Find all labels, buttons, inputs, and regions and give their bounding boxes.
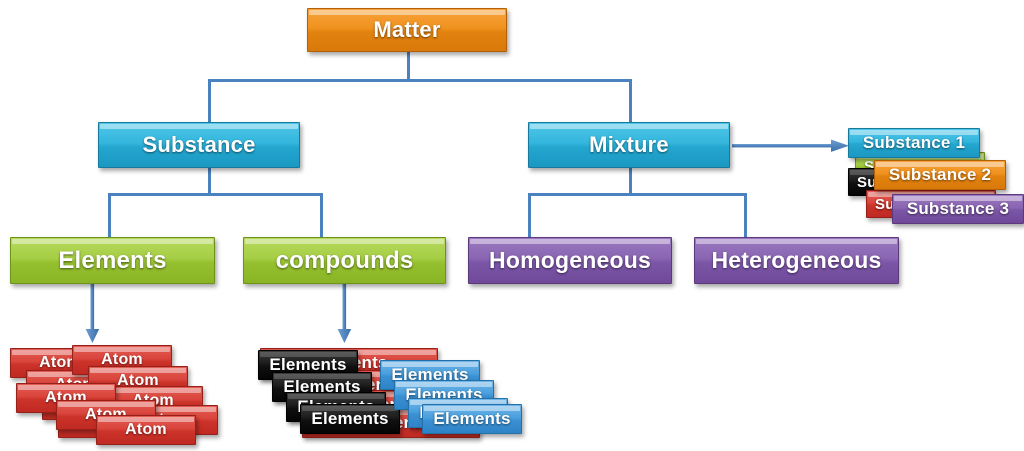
connector-to-homogeneous bbox=[528, 193, 531, 237]
arrow-compounds-to-elements bbox=[335, 283, 355, 345]
node-compounds[interactable]: compounds bbox=[243, 237, 446, 284]
connector-to-compounds bbox=[320, 193, 323, 237]
node-elements-item-label: Elements bbox=[433, 409, 510, 429]
node-substance-label: Substance bbox=[142, 132, 255, 158]
arrow-mixture-to-substances bbox=[732, 136, 852, 156]
node-atom-label: Atom bbox=[125, 421, 167, 439]
node-substance-3-label: Substance 3 bbox=[907, 199, 1009, 219]
node-elements-item[interactable]: Elements bbox=[300, 404, 400, 434]
arrow-elements-to-atoms bbox=[83, 283, 103, 345]
connector-mixture-bar bbox=[528, 193, 747, 196]
connector-to-mixture bbox=[629, 79, 632, 122]
connector-substance-bar bbox=[108, 193, 323, 196]
node-mixture-label: Mixture bbox=[589, 132, 669, 158]
node-compounds-label: compounds bbox=[276, 247, 414, 275]
node-atom[interactable]: Atom bbox=[96, 415, 196, 445]
node-matter-label: Matter bbox=[373, 17, 440, 43]
connector-level2-bar bbox=[208, 79, 632, 82]
connector-substance-trunk bbox=[208, 168, 211, 195]
node-matter[interactable]: Matter bbox=[307, 8, 507, 52]
connector-matter-trunk bbox=[407, 51, 410, 81]
node-substance[interactable]: Substance bbox=[98, 122, 300, 168]
node-substance-3[interactable]: Substance 3 bbox=[892, 194, 1024, 224]
node-elements-item[interactable]: Elements bbox=[422, 404, 522, 434]
connector-to-substance bbox=[208, 79, 211, 122]
connector-mixture-trunk bbox=[629, 168, 632, 195]
diagram-canvas: Matter Substance Mixture Elements compou… bbox=[0, 0, 1024, 451]
node-substance-1[interactable]: Substance 1 bbox=[848, 128, 980, 158]
connector-to-heterogeneous bbox=[744, 193, 747, 237]
node-elements[interactable]: Elements bbox=[10, 237, 215, 284]
node-substance-2-label: Substance 2 bbox=[889, 165, 991, 185]
connector-to-elements bbox=[108, 193, 111, 237]
node-homogeneous[interactable]: Homogeneous bbox=[468, 237, 672, 284]
node-mixture[interactable]: Mixture bbox=[528, 122, 730, 168]
node-elements-label: Elements bbox=[58, 247, 166, 275]
node-homogeneous-label: Homogeneous bbox=[489, 247, 651, 274]
node-elements-item-label: Elements bbox=[311, 409, 388, 429]
node-heterogeneous[interactable]: Heterogeneous bbox=[694, 237, 899, 284]
node-substance-2[interactable]: Substance 2 bbox=[874, 160, 1006, 190]
node-substance-1-label: Substance 1 bbox=[863, 133, 965, 153]
node-heterogeneous-label: Heterogeneous bbox=[711, 247, 881, 274]
